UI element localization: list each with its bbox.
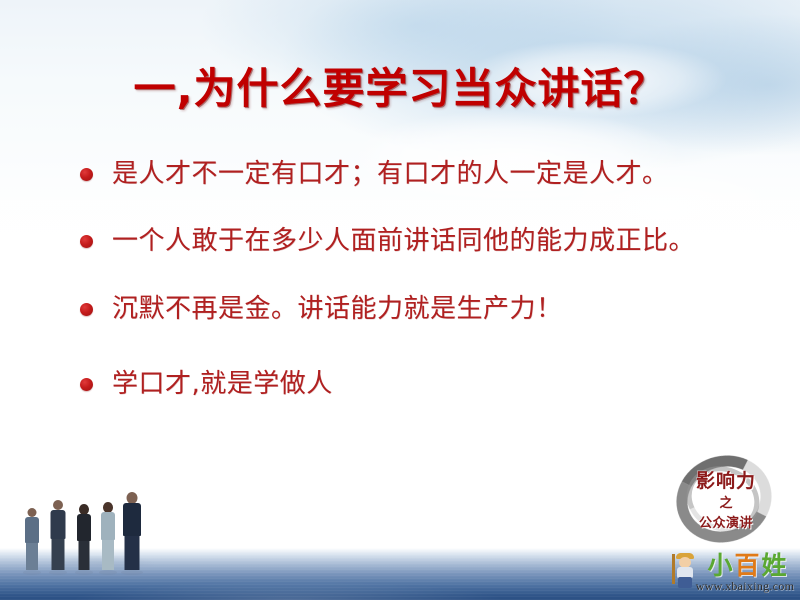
watermark-char-2: 百	[734, 553, 759, 578]
logo-line-3: 公众演讲	[674, 512, 778, 531]
bullet-text: 学口才,就是学做人	[112, 368, 333, 401]
person-legs	[79, 541, 90, 570]
site-watermark: 小 百 姓 www.xbaixing.com	[670, 550, 796, 596]
person-body	[77, 514, 91, 541]
bullet-text: 沉默不再是金。讲话能力就是生产力！	[112, 293, 563, 326]
logo-line-1: 影响力	[674, 466, 778, 493]
bullet-dot-icon	[80, 235, 93, 248]
bullet-dot-icon	[80, 168, 93, 181]
person-body	[123, 503, 141, 536]
person-head	[28, 508, 37, 517]
bullet-dot-icon	[80, 303, 93, 316]
person-legs	[52, 539, 65, 570]
list-item: 一个人敢于在多少人面前讲话同他的能力成正比。	[80, 225, 740, 258]
person-body	[25, 517, 39, 543]
person-shadow	[99, 570, 117, 575]
bullet-text: 是人才不一定有口才；有口才的人一定是人才。	[112, 158, 669, 191]
list-item: 是人才不一定有口才；有口才的人一定是人才。	[80, 158, 740, 191]
logo-line-2: 之	[674, 492, 778, 511]
watermark-characters: 小 百 姓	[700, 550, 794, 580]
person-shadow	[49, 570, 67, 575]
bullet-list: 是人才不一定有口才；有口才的人一定是人才。 一个人敢于在多少人面前讲话同他的能力…	[80, 158, 740, 401]
brand-logo: 影响力 之 公众演讲	[674, 452, 778, 548]
person-legs	[125, 536, 140, 570]
list-item: 沉默不再是金。讲话能力就是生产力！	[80, 293, 740, 326]
person-legs	[102, 540, 114, 570]
person-head	[53, 500, 63, 510]
bullet-text: 一个人敢于在多少人面前讲话同他的能力成正比。	[112, 225, 695, 258]
list-item: 学口才,就是学做人	[80, 368, 740, 401]
mascot-pants	[678, 577, 692, 588]
person-legs	[26, 543, 38, 570]
person-body	[101, 512, 115, 540]
person-body	[51, 510, 66, 539]
watermark-char-3: 姓	[762, 553, 787, 578]
watermark-char-1: 小	[707, 553, 732, 578]
bullet-dot-icon	[80, 378, 93, 391]
person-shadow	[121, 570, 143, 575]
business-people-photo	[26, 490, 176, 582]
slide-title: 一,为什么要学习当众讲话？	[0, 55, 800, 116]
person-shadow	[75, 570, 93, 575]
person-shadow	[23, 570, 41, 575]
pitchfork-icon	[672, 554, 675, 584]
photo-floor-reflection	[26, 556, 176, 582]
presentation-slide: 一,为什么要学习当众讲话？ 是人才不一定有口才；有口才的人一定是人才。 一个人敢…	[0, 0, 800, 600]
watermark-url: www.xbaixing.com	[694, 579, 796, 594]
